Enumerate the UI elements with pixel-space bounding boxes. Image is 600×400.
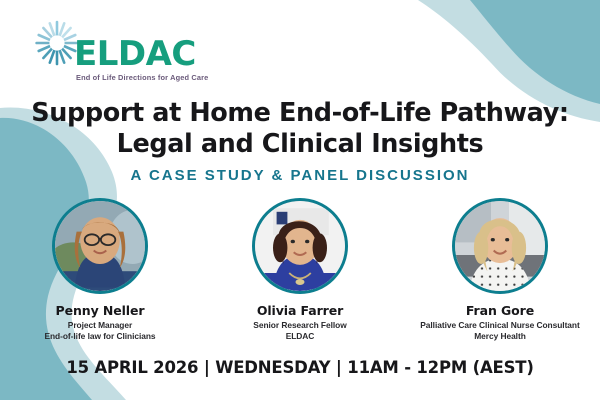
speaker-name: Fran Gore bbox=[466, 303, 534, 318]
speaker-name: Penny Neller bbox=[56, 303, 145, 318]
speakers-row: Penny Neller Project Manager End-of-life… bbox=[0, 198, 600, 341]
title-block: Support at Home End-of-Life Pathway: Leg… bbox=[0, 98, 600, 184]
webinar-promo-poster: ELDAC End of Life Directions for Aged Ca… bbox=[0, 0, 600, 400]
subtitle: A CASE STUDY & PANEL DISCUSSION bbox=[0, 167, 600, 184]
speaker-org: ELDAC bbox=[286, 331, 315, 342]
portrait-penny-neller bbox=[55, 201, 145, 291]
logo-wordmark: ELDAC bbox=[74, 37, 196, 71]
event-details: 15 APRIL 2026 | WEDNESDAY | 11AM - 12PM … bbox=[0, 358, 600, 377]
avatar bbox=[452, 198, 548, 294]
title-line-1: Support at Home End-of-Life Pathway: bbox=[0, 98, 600, 129]
portrait-fran-gore bbox=[455, 201, 545, 291]
avatar bbox=[252, 198, 348, 294]
speaker-role: Project Manager bbox=[68, 320, 132, 331]
title-line-2: Legal and Clinical Insights bbox=[0, 129, 600, 160]
portrait-olivia-farrer bbox=[255, 201, 345, 291]
speaker-org: End-of-life law for Clinicians bbox=[44, 331, 155, 342]
speaker-org: Mercy Health bbox=[474, 331, 526, 342]
speaker-role: Senior Research Fellow bbox=[253, 320, 346, 331]
eldac-logo: ELDAC End of Life Directions for Aged Ca… bbox=[34, 20, 194, 92]
logo-tagline: End of Life Directions for Aged Care bbox=[76, 73, 208, 82]
speaker-card: Olivia Farrer Senior Research Fellow ELD… bbox=[200, 198, 400, 341]
speaker-name: Olivia Farrer bbox=[257, 303, 343, 318]
speaker-card: Fran Gore Palliative Care Clinical Nurse… bbox=[400, 198, 600, 341]
avatar bbox=[52, 198, 148, 294]
speaker-card: Penny Neller Project Manager End-of-life… bbox=[0, 198, 200, 341]
speaker-role: Palliative Care Clinical Nurse Consultan… bbox=[420, 320, 579, 331]
